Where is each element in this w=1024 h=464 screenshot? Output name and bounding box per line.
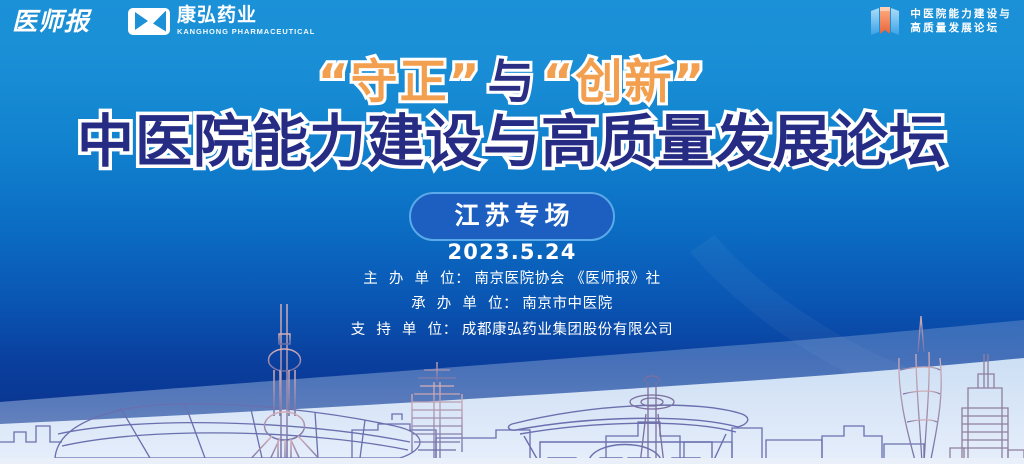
kanghong-name-cn: 康弘药业 (177, 6, 315, 25)
organizer-row-supporter: 支持单位 ： 成都康弘药业集团股份有限公司 (351, 319, 674, 341)
organizer-colon-supporter: ： (443, 319, 458, 341)
title-quote-shouzheng: “守正” (318, 55, 482, 110)
region-badge[interactable]: 江苏专场 (409, 192, 614, 241)
skyline-buildings (0, 404, 924, 458)
forum-logo-line1: 中医院能力建设与 (910, 9, 1012, 20)
title-line-2: 中医院能力建设与高质量发展论坛 (0, 113, 1024, 173)
organizer-value-organizer: 南京市中医院 (522, 293, 613, 315)
title-block: “守正”与“创新” 中医院能力建设与高质量发展论坛 (0, 58, 1024, 173)
kanghong-logo[interactable]: 康弘药业 KANGHONG PHARMACEUTICAL (128, 6, 315, 36)
organizer-label-host: 主办单位 (363, 268, 455, 290)
skyline-ground (0, 358, 1024, 464)
organizer-colon-host: ： (455, 268, 470, 290)
ribbed-tower-icon (412, 362, 462, 464)
kanghong-mark-icon (128, 8, 170, 35)
kanghong-name-en: KANGHONG PHARMACEUTICAL (177, 28, 315, 36)
title-quote-chuangxin: “创新” (543, 55, 707, 110)
title-conjunction: 与 (488, 55, 537, 110)
banner-header: 医师报 康弘药业 KANGHONG PHARMACEUTICAL (0, 0, 1024, 42)
yishibao-logo[interactable]: 医师报 (12, 9, 90, 34)
organizer-colon-organizer: ： (503, 293, 518, 315)
forum-logo-text: 中医院能力建设与 高质量发展论坛 (910, 9, 1012, 33)
title-line-1: “守正”与“创新” (0, 58, 1024, 107)
organizer-row-host: 主办单位 ： 南京医院协会 《医师报》社 (363, 268, 661, 290)
kanghong-logo-text: 康弘药业 KANGHONG PHARMACEUTICAL (177, 6, 315, 36)
office-tower-icon (950, 354, 1024, 464)
badge-row: 江苏专场 (0, 192, 1024, 241)
arena-icon (509, 405, 748, 464)
organizer-list: 主办单位 ： 南京医院协会 《医师报》社 承办单位 ： 南京市中医院 支持单位 … (0, 268, 1024, 341)
book-pillar-icon (868, 4, 902, 38)
organizer-row-organizer: 承办单位 ： 南京市中医院 (411, 293, 613, 315)
bottom-strip (0, 458, 1024, 464)
antenna-cluster-icon (630, 376, 674, 464)
forum-logo[interactable]: 中医院能力建设与 高质量发展论坛 (868, 4, 1012, 38)
organizer-label-supporter: 支持单位 (351, 319, 443, 341)
event-date: 2023.5.24 (0, 240, 1024, 264)
organizer-value-host: 南京医院协会 《医师报》社 (474, 268, 660, 290)
organizer-label-organizer: 承办单位 (411, 293, 503, 315)
skyline-haze-band (0, 320, 1024, 464)
organizer-value-supporter: 成都康弘药业集团股份有限公司 (462, 319, 673, 341)
forum-banner: 医师报 康弘药业 KANGHONG PHARMACEUTICAL (0, 0, 1024, 464)
forum-logo-line2: 高质量发展论坛 (910, 23, 1012, 34)
